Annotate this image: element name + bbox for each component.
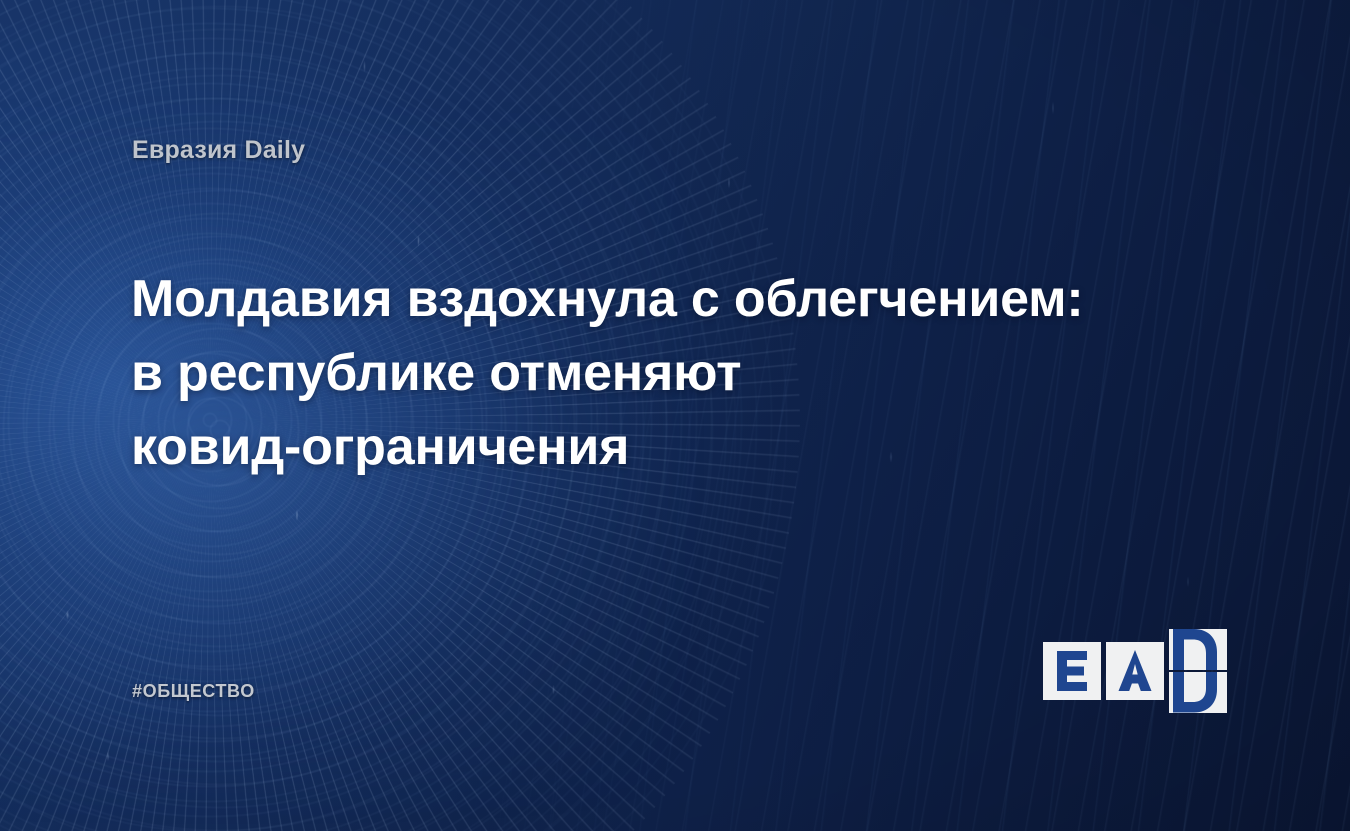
card-content: Евразия Daily Молдавия вздохнула с облег… [0, 0, 1350, 831]
headline: Молдавия вздохнула с облегчением: в респ… [131, 262, 1141, 484]
logo-letter-d-tile [1169, 629, 1227, 713]
category-hashtag[interactable]: #ОБЩЕСТВО [132, 681, 255, 702]
brand-label: Евразия Daily [132, 136, 305, 165]
letter-d-upper-half [1169, 629, 1227, 670]
logo-letter-a-tile [1106, 642, 1164, 700]
letter-d-top-icon [1169, 629, 1227, 670]
headline-line-3: ковид-ограничения [131, 410, 1141, 484]
news-card: Евразия Daily Молдавия вздохнула с облег… [0, 0, 1350, 831]
letter-d-bottom-icon [1169, 672, 1227, 713]
headline-line-2: в республике отменяют [131, 336, 1141, 410]
letter-a-icon [1106, 642, 1164, 700]
eadaily-logo[interactable] [1043, 629, 1221, 713]
letter-d-lower-half [1169, 672, 1227, 713]
letter-e-icon [1043, 642, 1101, 700]
logo-letter-e-tile [1043, 642, 1101, 700]
headline-line-1: Молдавия вздохнула с облегчением: [131, 262, 1141, 336]
